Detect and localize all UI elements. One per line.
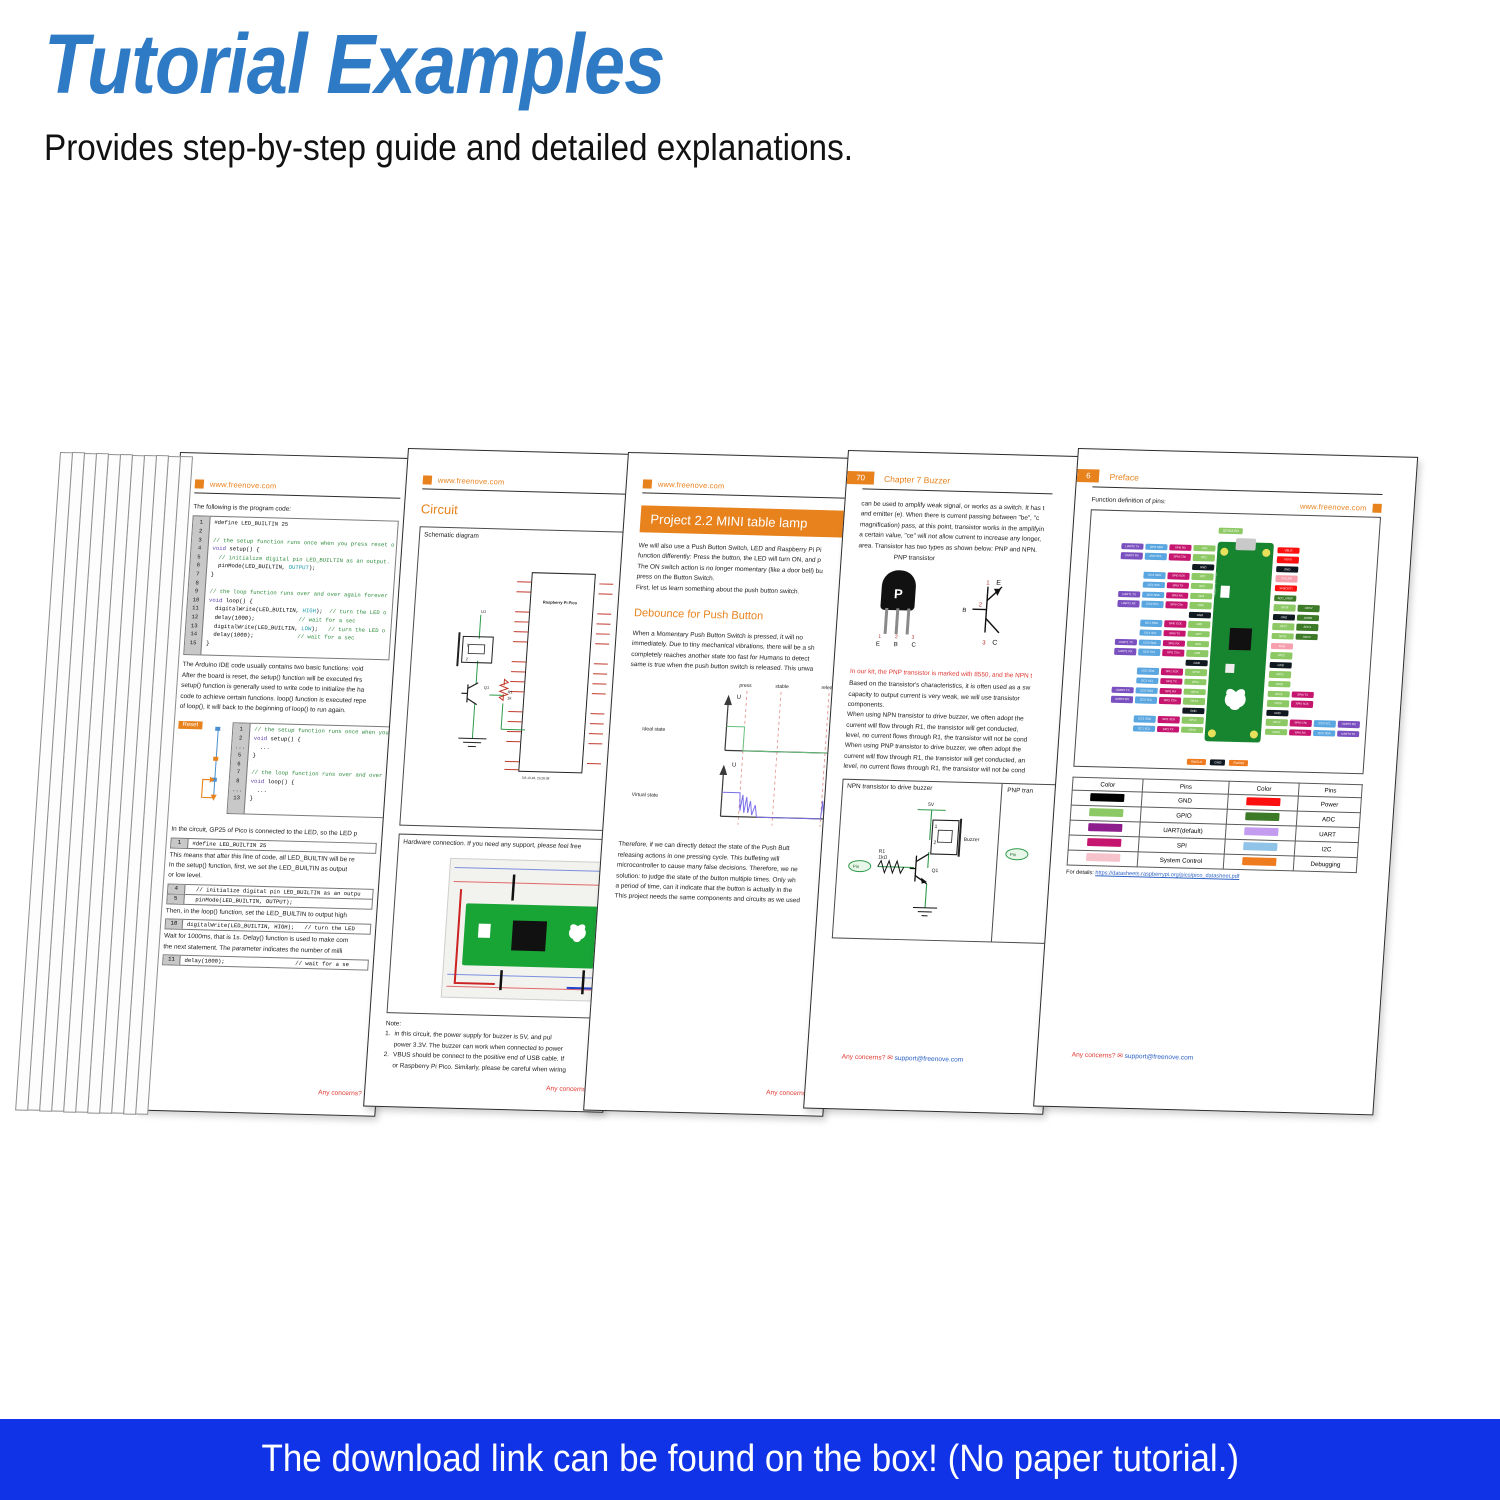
pin-label: SPI0 SCK [1167, 573, 1189, 580]
pin-label: I2C0 SCL [1135, 697, 1157, 704]
pin-label: ADC1 [1296, 624, 1318, 631]
svg-text:1kΩ: 1kΩ [878, 854, 888, 860]
legend-pin-cell: Power [1298, 796, 1362, 813]
details-prefix: For details: [1066, 870, 1094, 877]
color-swatch [1089, 808, 1124, 817]
page-footer-note: Any concerns? ✉ support@freenove.com [1071, 1051, 1193, 1062]
hardware-caption: Hardware connection. If you need any sup… [403, 839, 600, 851]
svg-text:2: 2 [466, 657, 469, 662]
pin-label: GP21 [1269, 671, 1291, 678]
svg-text:2: 2 [979, 602, 983, 608]
pin-label: GP9 [1186, 650, 1208, 657]
breadboard-image [441, 858, 605, 1002]
pin-row: GP16SPI0 RXI2C0 SDAUART0 TX [1265, 727, 1381, 740]
pin-row: I2C1 SCLSPI1 TXGP15 [1081, 722, 1204, 735]
page-brand-header: www.freenove.com [195, 479, 402, 493]
page-chapter-header: 70 Chapter 7 Buzzer [847, 471, 1070, 490]
pin-label: SPI1 TX [1160, 678, 1182, 685]
svg-text:1: 1 [986, 581, 990, 587]
pin-label: GP17 [1266, 719, 1288, 726]
pin-label: I2C0 SCL [1138, 649, 1160, 656]
schematic-caption: Schematic diagram [424, 531, 621, 543]
schematic-panel: Schematic diagram Raspberry Pi Pico [399, 526, 626, 831]
svg-text:Q1: Q1 [931, 868, 938, 874]
page-footer-note: Any concerns? [318, 1089, 362, 1097]
color-swatch [1244, 827, 1279, 836]
legend-swatch-cell [1223, 854, 1294, 871]
page-number-tab: 70 [847, 471, 875, 485]
pin-label: SPI1 RX [1163, 640, 1185, 647]
site-url: www.freenove.com [210, 480, 277, 491]
pin-label: SPI1 SCK [1157, 716, 1179, 723]
pin-label: SPI0 RX [1169, 544, 1191, 551]
table-body: GNDPowerGPIOADCUART(default)UARTSPII2CSy… [1067, 790, 1361, 872]
pin-label: GND [1276, 566, 1298, 573]
color-swatch [1087, 838, 1122, 847]
subsection-heading-debounce: Debounce for Push Button [634, 607, 841, 624]
pnp-transistor-figure: PNP transistor P 1 2 3 E B [850, 553, 1048, 670]
pico-board-graphic: Raspberry Pi Pico [1204, 542, 1274, 743]
pin-label: I2C1 SDA [1140, 620, 1162, 627]
pin-label: I2C1 SCL [1139, 630, 1161, 637]
legend-swatch-cell [1067, 850, 1138, 867]
pin-label: SPI1 TX [1157, 726, 1179, 733]
pin-label: UART1 RX [1117, 600, 1139, 607]
transistor-package-icon: P [880, 570, 917, 611]
tutorial-page-fan: www.freenove.com The following is the pr… [0, 0, 1500, 1500]
pin-label: 3V3_EN [1275, 576, 1297, 583]
pin-label: SPI0 TX [1163, 630, 1185, 637]
svg-text:U1: U1 [481, 609, 487, 614]
color-swatch [1090, 793, 1125, 802]
pin-label: GP27 [1272, 623, 1294, 630]
pin-label: SPI0 TX [1292, 691, 1314, 698]
pin-label: 3V3(OUT) [1275, 585, 1297, 592]
pin-label: GND [1182, 707, 1204, 714]
pin-label: ADC_VREF [1274, 595, 1296, 602]
svg-text:3: 3 [982, 640, 986, 646]
code-explanation-paragraph: The Arduino IDE code usually contains tw… [179, 660, 389, 717]
pin-label: GND [1266, 710, 1288, 717]
pin-label: GP0 [1193, 545, 1215, 552]
pin-label: SPI0 RX [1166, 592, 1188, 599]
program-flow-diagram: Reset 12...5678...13 // the setup funct [172, 721, 385, 822]
pin-label: GP13 [1183, 698, 1205, 705]
transistor-paragraph: can be used to amplify weak signal, or w… [858, 499, 1052, 556]
pin-label: GND [1189, 612, 1211, 619]
site-url: www.freenove.com [1300, 502, 1367, 513]
notes-block: Note: 1. in this circuit, the power supp… [383, 1019, 593, 1076]
datasheet-link[interactable]: https://datasheets.raspberrypi.org/pico/… [1095, 870, 1239, 880]
svg-text:Pin: Pin [853, 864, 860, 869]
pin-label: SPI1 RX [1159, 688, 1181, 695]
svg-text:1: 1 [467, 643, 470, 648]
page-brand-header: www.freenove.com [1300, 502, 1382, 513]
pin-label: GP16 [1265, 729, 1287, 736]
freenove-logo-icon [195, 479, 205, 488]
pin-label: SPI0 SCK [1291, 701, 1313, 708]
legend-pin-cell: ADC [1297, 811, 1361, 828]
freenove-logo-icon [643, 479, 653, 488]
svg-text:B: B [962, 608, 966, 614]
pin-label: GP15 [1181, 727, 1203, 734]
pin-label: SPI0 SCK [1164, 621, 1186, 628]
svg-text:1: 1 [934, 824, 937, 830]
raspberry-pi-logo-icon [1221, 684, 1249, 715]
pinout-diagram-panel: GP25/LED Raspberry Pi Pico [1073, 509, 1381, 774]
pin-label: I2C0 SDA [1139, 639, 1161, 646]
gnd-pins-label: 3,8,13,18, 23,28,38 [522, 776, 550, 781]
pin-label: RUN [1271, 643, 1293, 650]
pin-label: I2C1 SCL [1143, 582, 1165, 589]
document-page-preface[interactable]: 6 Preface Function definition of pins: w… [1033, 448, 1418, 1115]
npn-panel-title: NPN transistor to drive buzzer [847, 782, 933, 791]
legend-pin-cell: UART [1296, 826, 1360, 843]
buzzer-transistor-schematic-icon: U1 Q1 R1 1k 1 2 [432, 598, 534, 780]
pin-label: SPI1 SCK [1161, 668, 1183, 675]
pin-label: UART0 TX [1111, 686, 1133, 693]
svg-text:C: C [992, 640, 998, 647]
svg-text:5V: 5V [928, 802, 935, 808]
svg-text:Pin: Pin [1010, 852, 1017, 857]
color-swatch [1246, 797, 1281, 806]
code-source: #define LED_BUILTIN 25 // the setup func… [201, 517, 397, 660]
page-brand-header: www.freenove.com [423, 475, 630, 489]
pin-label: SPI0 RX [1289, 729, 1311, 736]
pin-label: GND [1273, 614, 1295, 621]
color-swatch [1088, 823, 1123, 832]
svg-text:E: E [996, 580, 1001, 587]
color-swatch [1242, 857, 1277, 866]
pin-label: GP1 [1193, 554, 1215, 561]
header-rule [862, 488, 1052, 494]
pin-label: GP10 [1185, 669, 1207, 676]
pin-label: I2C0 SDA [1135, 687, 1157, 694]
color-swatch [1245, 812, 1280, 821]
page-brand-header: www.freenove.com [643, 479, 850, 493]
pin-label: GND [1185, 660, 1207, 667]
pnp-pin-numbers: 1 2 3 [878, 634, 914, 641]
chip-name-label: Raspberry Pi Pico [543, 600, 578, 606]
pin-label: UART1 TX [1115, 638, 1137, 645]
pin-label: VSYS [1277, 556, 1299, 563]
pin-label: VBUS [1277, 547, 1299, 554]
legend-pin-cell: I2C [1295, 841, 1359, 858]
pin-label: GND [1269, 662, 1291, 669]
pin-label: SPI1 CSn [1162, 649, 1184, 656]
pin-label: ADC2 [1297, 605, 1319, 612]
pnp-pin-letters: E B C [876, 642, 916, 649]
color-swatch [1243, 842, 1278, 851]
pin-label: SPI0 CSn [1169, 554, 1191, 561]
chapter-label: Chapter 7 Buzzer [884, 473, 951, 485]
pinout-right-labels: VBUSVSYSGND3V3_EN3V3(OUT)ADC_VREFGP28ADC… [1265, 545, 1381, 740]
envelope-icon: ✉ [887, 1055, 893, 1062]
pin-label: GP5 [1189, 602, 1211, 609]
debounce-paragraph: When a Momentary Push Button Switch is p… [630, 629, 839, 676]
freenove-logo-icon [423, 475, 433, 484]
svg-text:1k: 1k [507, 696, 512, 701]
pin-label: AGND [1297, 614, 1319, 621]
pnp-symbol-icon: E C B 1 2 3 [956, 574, 1031, 652]
chapter-label: Preface [1109, 471, 1139, 482]
usb-connector-icon [1235, 538, 1256, 550]
pinout-left-labels: UART0 TXI2C0 SDASPI0 RXGP0UART0 RXI2C0 S… [1081, 540, 1216, 735]
code-block-main: 12345678 9101112131415 #define LED_BUILT… [183, 516, 399, 661]
pnp-panel-title: PNP tran [1007, 787, 1033, 795]
pin-label: GP18 [1267, 700, 1289, 707]
pin-label: GP11 [1184, 679, 1206, 686]
project-intro-paragraph: We will also use a Push Button Switch, L… [635, 541, 845, 598]
pinout-bottom-labels: SWCLK GND SWDIO [1187, 759, 1249, 767]
pin-label: I2C1 SCL [1136, 677, 1158, 684]
download-banner: The download link can be found on the bo… [0, 1419, 1500, 1500]
pin-label: GP12 [1183, 688, 1205, 695]
pin-label: GP4 [1190, 593, 1212, 600]
pin-label: GND [1192, 564, 1214, 571]
pin-label: GP22 [1270, 652, 1292, 659]
pin-color-legend-table: Color Pins Color Pins GNDPowerGPIOADCUAR… [1067, 777, 1363, 873]
pin-label: UART0 TX [1121, 543, 1143, 550]
envelope-icon: ✉ [1117, 1053, 1123, 1060]
pin-label: UART0 RX [1121, 552, 1143, 559]
pin-label: UART0 TX [1337, 731, 1359, 738]
pin-label: UART1 TX [1118, 591, 1140, 598]
site-url: www.freenove.com [658, 480, 725, 491]
pin-label: SPI1 CSn [1159, 697, 1181, 704]
svg-text:2: 2 [933, 840, 936, 846]
pin-label: SPI0 CSn [1165, 601, 1187, 608]
pin-label: I2C0 SDA [1313, 730, 1335, 737]
hardware-connection-panel: Hardware connection. If you need any sup… [387, 834, 605, 1019]
pin-label: UART0 RX [1338, 721, 1360, 728]
pin-label: I2C1 SDA [1137, 668, 1159, 675]
legend-pin-cell: System Control [1137, 852, 1224, 869]
header-rule [194, 492, 400, 498]
freenove-logo-icon [1372, 504, 1382, 513]
section-heading-circuit: Circuit [420, 501, 627, 521]
pin-label: GP28 [1273, 604, 1295, 611]
pin-label: UART1 RX [1114, 648, 1136, 655]
pnp-caption: PNP transistor [894, 554, 936, 562]
debounce-waveform-figure: press stable release U Ideal state U Vir… [619, 680, 835, 835]
pin-label: GP20 [1268, 681, 1290, 688]
breadboard-wires-icon [442, 859, 605, 1003]
header-rule [642, 492, 848, 498]
pin-label: SPI0 TX [1167, 582, 1189, 589]
pin-label: GP14 [1182, 717, 1204, 724]
pin-label: GP26 [1271, 633, 1293, 640]
pin-label: I2C0 SCL [1141, 601, 1163, 608]
legend-pin-cell: Debugging [1294, 856, 1358, 873]
pin-label: GP8 [1187, 640, 1209, 647]
site-url: www.freenove.com [438, 476, 505, 487]
reset-badge: Reset [178, 721, 202, 730]
pin-label: I2C1 SDA [1133, 716, 1155, 723]
pin-label: I2C0 SDA [1142, 591, 1164, 598]
pin-label: GP6 [1188, 621, 1210, 628]
pin-label: GP7 [1187, 631, 1209, 638]
pin-label: UART0 RX [1111, 696, 1133, 703]
project-title-bar: Project 2.2 MINI table lamp [640, 505, 848, 537]
pin-label: GP2 [1191, 573, 1213, 580]
debounce-conclusion-paragraph: Therefore, if we can directly detect the… [614, 840, 824, 908]
page-number-tab: 6 [1077, 469, 1100, 483]
header-rule [422, 488, 628, 494]
page-footer-note: Any concerns? ✉ support@freenove.com [841, 1053, 963, 1064]
color-swatch [1086, 853, 1121, 862]
section-title-pins: Function definition of pins: [1091, 496, 1166, 505]
svg-text:Q1: Q1 [484, 685, 490, 690]
pin-label: GP19 [1268, 690, 1290, 697]
pin-label: I2C1 SDA [1143, 572, 1165, 579]
pin-label: I2C0 SDA [1145, 543, 1167, 550]
npn-buzzer-circuit-icon: Buzzer 1 2 5V Q1 R1 1kΩ [839, 793, 999, 937]
svg-text:R1: R1 [507, 690, 513, 695]
pin-label-gp25-led: GP25/LED [1218, 528, 1243, 535]
pin-label: I2C1 SCL [1133, 725, 1155, 732]
pin-label: I2C0 SCL [1314, 720, 1336, 727]
banner-text: The download link can be found on the bo… [261, 1438, 1239, 1481]
snippet-pinmode: 4 // initialize digital pin LED_BUILTIN … [166, 883, 374, 909]
transistor-usage-paragraph: Based on the transistor's characteristic… [843, 679, 1039, 777]
pin-label: SPI0 CSn [1290, 720, 1312, 727]
svg-text:Buzzer: Buzzer [964, 836, 980, 842]
pin-label: GP3 [1191, 583, 1213, 590]
pin-label: I2C0 SCL [1145, 553, 1167, 560]
pin-label: ADC0 [1295, 634, 1317, 641]
